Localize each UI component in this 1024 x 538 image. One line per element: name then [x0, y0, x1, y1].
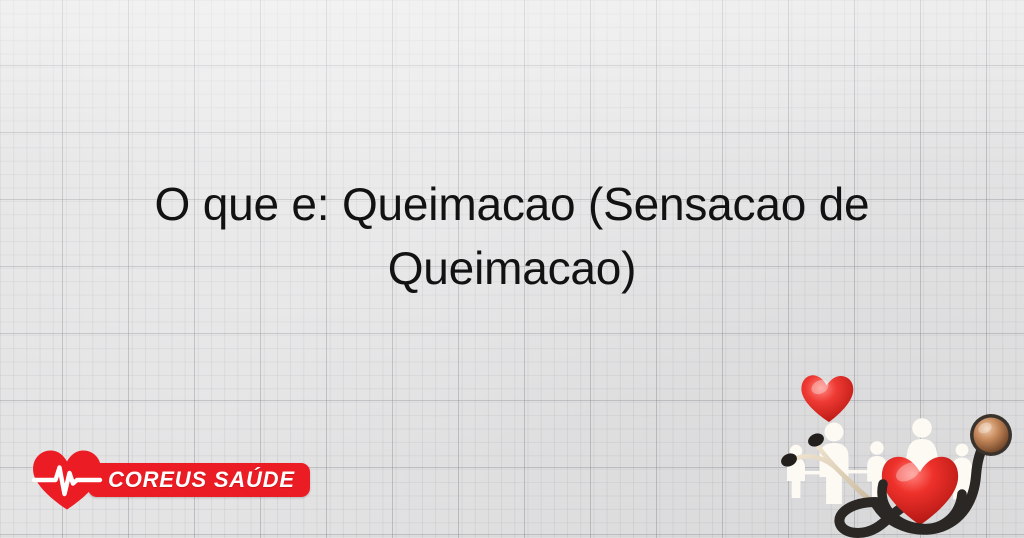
- page-title: O que e: Queimacao (Sensacao de Queimaca…: [52, 172, 972, 300]
- medical-artwork: [772, 352, 1024, 538]
- brand-banner: COREUS SAÚDE: [88, 463, 310, 497]
- headline-block: O que e: Queimacao (Sensacao de Queimaca…: [52, 172, 972, 300]
- brand-logo[interactable]: COREUS SAÚDE: [30, 449, 310, 511]
- stethoscope-chestpiece-icon: [970, 414, 1012, 456]
- slide-canvas: O que e: Queimacao (Sensacao de Queimaca…: [0, 0, 1024, 538]
- small-heart-icon: [801, 375, 853, 422]
- heart-pulse-icon: [30, 449, 104, 511]
- brand-name-label: COREUS SAÚDE: [108, 467, 295, 493]
